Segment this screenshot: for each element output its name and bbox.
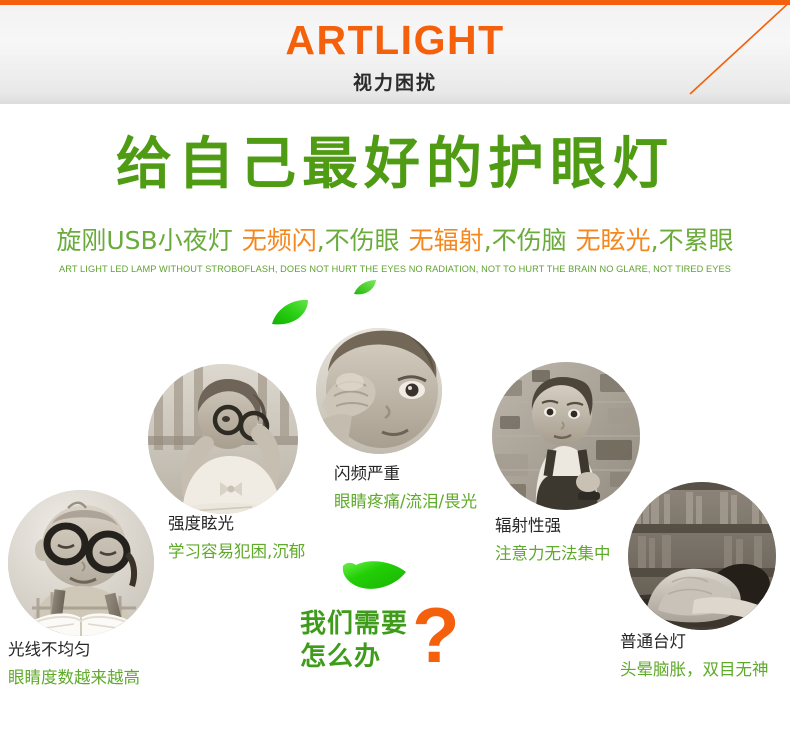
cta-block: 我们需要 怎么办 ?	[300, 608, 460, 675]
subtitle-part-2: ,不伤眼	[317, 226, 400, 255]
subtitle-part-5: 无眩光	[576, 226, 651, 255]
photo-circle-ordinary-lamp	[628, 482, 776, 630]
caption-ordinary-lamp: 普通台灯 头晕脑胀，双目无神	[620, 630, 769, 682]
caption-detail: 眼睛疼痛/流泪/畏光	[334, 490, 477, 514]
subtitle-part-4: ,不伤脑	[484, 226, 567, 255]
leaf-upper-left-icon	[268, 296, 314, 334]
photo-circle-severe-flicker	[316, 328, 442, 454]
girl-holding-glasses-image	[148, 364, 298, 514]
cta-line-2: 怎么办	[300, 641, 408, 674]
child-sleeping-on-desk-image	[628, 482, 776, 630]
subtitle-part-0: 旋刚USB小夜灯	[56, 226, 232, 255]
caption-title: 强度眩光	[168, 512, 305, 536]
boy-rubbing-eye-image	[316, 328, 442, 454]
caption-title: 辐射性强	[495, 514, 611, 538]
photo-circle-strong-radiation	[492, 362, 640, 510]
photo-circle-uneven-light	[8, 490, 154, 636]
subtitle-line: 旋刚USB小夜灯无频闪,不伤眼无辐射,不伤脑无眩光,不累眼	[0, 227, 790, 256]
leaf-center-bottom-icon	[340, 552, 410, 604]
toddler-on-play-mat-image	[492, 362, 640, 510]
caption-strong-glare: 强度眩光 学习容易犯困,沉郁	[168, 512, 305, 564]
subtitle-english: ART LIGHT LED LAMP WITHOUT STROBOFLASH, …	[12, 264, 778, 275]
brand-title: ARTLIGHT	[0, 20, 790, 61]
caption-detail: 注意力无法集中	[495, 542, 611, 566]
question-mark-icon: ?	[412, 602, 460, 668]
caption-detail: 头晕脑胀，双目无神	[620, 658, 769, 682]
caption-title: 光线不均匀	[8, 638, 140, 662]
subtitle-part-6: ,不累眼	[651, 226, 734, 255]
caption-uneven-light: 光线不均匀 眼睛度数越来越高	[8, 638, 140, 690]
header-accent-bar	[0, 0, 790, 5]
subtitle-part-1: 无频闪	[242, 226, 317, 255]
caption-strong-radiation: 辐射性强 注意力无法集中	[495, 514, 611, 566]
cta-line-1: 我们需要	[300, 608, 408, 641]
caption-title: 普通台灯	[620, 630, 769, 654]
page-header: ARTLIGHT 视力困扰	[0, 0, 790, 104]
page-title: 给自己最好的护眼灯	[0, 134, 790, 196]
leaf-upper-right-icon	[352, 278, 378, 302]
caption-detail: 眼睛度数越来越高	[8, 666, 140, 690]
caption-severe-flicker: 闪频严重 眼睛疼痛/流泪/畏光	[334, 462, 477, 514]
photo-circle-strong-glare	[148, 364, 298, 514]
baby-with-glasses-reading-book-image	[8, 490, 154, 636]
cta-text: 我们需要 怎么办	[300, 608, 408, 675]
brand-subtitle: 视力困扰	[0, 68, 790, 95]
subtitle-part-3: 无辐射	[409, 226, 484, 255]
caption-detail: 学习容易犯困,沉郁	[168, 540, 305, 564]
caption-title: 闪频严重	[334, 462, 477, 486]
